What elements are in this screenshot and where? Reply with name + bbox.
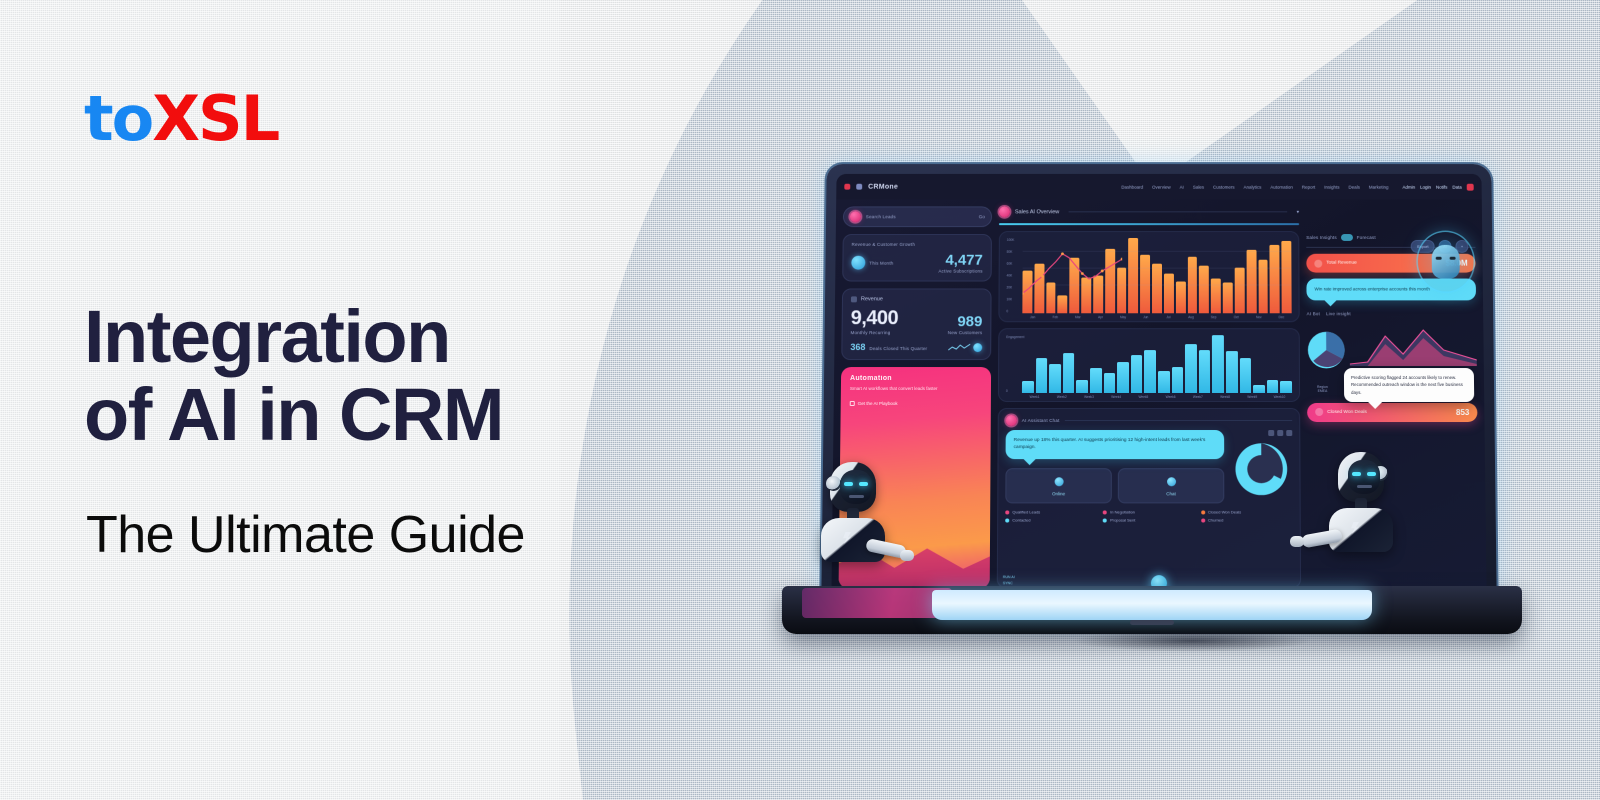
engagement-bar-chart-xaxis: Week1Week2Week3Week4Week5Week6Week7Week8…: [1006, 394, 1292, 398]
engagement-bar-chart: Engagement 0 Week1Week2Week3Week4Week5We…: [998, 328, 1300, 402]
topbar-admin-chip[interactable]: Admin: [1402, 184, 1415, 189]
page-title-line-2: of AI in CRM: [84, 376, 724, 454]
revenue-bar: [1058, 295, 1068, 312]
search-go-button[interactable]: Go: [979, 214, 985, 219]
engagement-bar: [1144, 350, 1156, 392]
legend-label: Closed Won Deals: [1208, 510, 1241, 515]
total-revenue-label: Total Revenue: [1326, 261, 1357, 266]
engagement-xtick: Week9: [1240, 394, 1265, 398]
promo-title: Automation: [850, 375, 982, 382]
laptop-base: [782, 586, 1522, 634]
revenue-bar: [1070, 258, 1080, 313]
robot-right-hand: [1290, 536, 1304, 547]
topbar-login-chip[interactable]: Login: [1420, 184, 1431, 189]
revenue-bar: [1046, 283, 1056, 313]
ai-avatar-head-icon: [1432, 245, 1460, 279]
close-icon[interactable]: [1286, 430, 1292, 436]
logo-text-xsl: XSL: [152, 82, 278, 155]
chat-stat-tile-chat[interactable]: Chat: [1118, 468, 1224, 503]
chat-stat-tile-online-label: Online: [1012, 492, 1104, 497]
engagement-bar: [1117, 362, 1129, 393]
legend-column-2: In Negotiation Proposal Sent: [1103, 510, 1195, 526]
main-header-avatar: [999, 206, 1010, 217]
revenue-bar: [1176, 281, 1186, 312]
engagement-ylabel-bottom: 0: [1006, 388, 1024, 392]
engagement-yaxis: Engagement 0: [1006, 335, 1024, 393]
engagement-bar: [1090, 368, 1102, 392]
legend-dot: [1103, 518, 1107, 522]
laptop-mockup: CRMone Dashboard Overview AI Sales Custo…: [782, 162, 1522, 642]
robot-left-mouth-icon: [849, 495, 864, 498]
legend-column-3: Closed Won Deals Churned: [1201, 510, 1293, 526]
engagement-bar-chart-plot: Engagement 0: [1006, 335, 1292, 393]
metrics-grid-icon: [851, 296, 857, 302]
topbar-data-chip[interactable]: Data: [1452, 184, 1462, 189]
laptop-base-glow-left: [802, 588, 952, 618]
revenue-bar: [1235, 267, 1245, 313]
engagement-bar: [1049, 364, 1061, 392]
revenue-xtick: Nov: [1248, 315, 1269, 319]
revenue-xtick: Jan: [1022, 315, 1043, 319]
revenue-bar: [1034, 264, 1044, 313]
metrics-primary-caption: Monthly Recurring: [851, 330, 899, 335]
legend-item: Contacted: [1005, 518, 1097, 523]
engagement-xtick: Week8: [1212, 394, 1237, 398]
brand-logo[interactable]: toXSL: [84, 88, 278, 150]
revenue-xtick: May: [1113, 315, 1134, 319]
ai-model-tag-icon: [1341, 234, 1353, 241]
legend-dot: [1201, 518, 1205, 522]
revenue-xtick: Aug: [1181, 315, 1202, 319]
ai-avatar-eye-right-icon: [1450, 257, 1456, 260]
revenue-bar: [1199, 266, 1209, 313]
robot-left-chest-logo-icon: [843, 532, 851, 544]
topbar-notifs-chip[interactable]: Notifs: [1436, 184, 1447, 189]
bubble-meta-left: AI Bot: [1307, 311, 1320, 316]
legend-item: Closed Won Deals: [1201, 510, 1293, 515]
app-nav[interactable]: Dashboard Overview AI Sales Customers An…: [1121, 184, 1388, 189]
revenue-bar: [1152, 264, 1162, 313]
revenue-bar-chart-plot: 100K80K60K40K20K10K0: [1006, 237, 1291, 312]
engagement-xtick: Week2: [1049, 394, 1074, 398]
search-avatar-icon: [850, 211, 861, 222]
legend-label: Contacted: [1012, 518, 1030, 523]
nav-item-analytics[interactable]: Analytics: [1243, 184, 1261, 189]
robot-right-mouth-icon: [1357, 485, 1372, 488]
chevron-down-icon[interactable]: ▾: [1297, 209, 1300, 215]
laptop-shadow: [1072, 630, 1312, 652]
revenue-bar: [1022, 270, 1032, 312]
kpi-card-row: This Month 4,477 Active Subscriptions: [851, 252, 983, 274]
legend-dot: [1005, 510, 1009, 514]
laptop-lid: CRMone Dashboard Overview AI Sales Custo…: [821, 164, 1497, 603]
revenue-ytick: 100K: [1007, 237, 1014, 241]
info-icon[interactable]: [1268, 430, 1274, 436]
metrics-secondary-value: 989: [948, 313, 983, 330]
revenue-bar: [1081, 277, 1091, 312]
metrics-footer-value: 368: [850, 342, 865, 352]
ai-chat-header: AI Assistant Chat: [1006, 414, 1292, 425]
revenue-ytick: 0: [1006, 309, 1013, 313]
legend-dot: [1103, 510, 1107, 514]
engagement-xtick: Week7: [1185, 394, 1210, 398]
legend-label: Proposal Sent: [1110, 518, 1135, 523]
nav-item-overview[interactable]: Overview: [1152, 184, 1171, 189]
laptop-base-notch: [1130, 620, 1174, 625]
laptop-keyboard-deck: [932, 590, 1372, 620]
closed-deals-badge[interactable]: Closed Won Deals 853: [1307, 403, 1477, 422]
robot-right-head: [1338, 452, 1384, 502]
ai-avatar-eye-left-icon: [1436, 257, 1442, 260]
ai-avatar-badge: [1418, 232, 1474, 291]
nav-item-customers[interactable]: Customers: [1213, 184, 1235, 189]
ai-chat-bubble: Revenue up 18% this quarter. AI suggests…: [1006, 430, 1225, 460]
revenue-ytick: 20K: [1007, 285, 1014, 289]
robot-left-hand: [900, 550, 914, 561]
window-dot-red-icon: [844, 184, 850, 190]
ai-chat-avatar: [1006, 414, 1017, 425]
revenue-ytick: 10K: [1006, 297, 1013, 301]
nav-item-marketing[interactable]: Marketing: [1369, 184, 1389, 189]
channel-mix-pie-chart: [1307, 324, 1346, 376]
revenue-xtick: Sep: [1203, 315, 1224, 319]
kpi-sub-label: This Month: [869, 260, 893, 265]
legend-item: In Negotiation: [1103, 510, 1195, 515]
revenue-bar: [1246, 250, 1256, 313]
page-subtitle: The Ultimate Guide: [86, 505, 525, 565]
revenue-bar: [1129, 237, 1139, 312]
main-header-title: Sales AI Overview: [1015, 209, 1059, 215]
metrics-action-icon[interactable]: [973, 343, 982, 352]
window-dot-blue-icon: [856, 184, 862, 190]
chat-stat-tile-chat-label: Chat: [1125, 492, 1217, 497]
robot-right-eye-right-icon: [1367, 472, 1376, 476]
right-panel-title: Sales Insights: [1306, 235, 1337, 240]
nav-item-dashboard[interactable]: Dashboard: [1121, 184, 1143, 189]
chat-stat-tile-online[interactable]: Online: [1005, 468, 1112, 503]
robot-left-face: [840, 470, 872, 504]
nav-item-automation[interactable]: Automation: [1270, 184, 1293, 189]
engagement-xtick: Week3: [1076, 394, 1101, 398]
revenue-bar: [1117, 267, 1127, 313]
expand-icon[interactable]: [1277, 430, 1283, 436]
conversion-area-chart: [1349, 324, 1476, 366]
robot-right-face: [1348, 460, 1380, 494]
robot-left-eye-right-icon: [859, 482, 868, 486]
robot-left-ear-icon: [826, 476, 841, 491]
engagement-xtick: Week10: [1267, 394, 1292, 398]
engagement-bar: [1226, 351, 1238, 392]
engagement-xtick: Week6: [1158, 394, 1183, 398]
revenue-badge-icon: [1314, 259, 1322, 267]
robot-left-head: [830, 462, 876, 512]
revenue-bar: [1105, 248, 1115, 312]
kpi-caption: Active Subscriptions: [938, 269, 982, 274]
engagement-bar: [1104, 373, 1116, 392]
engagement-bar: [1063, 353, 1075, 393]
page-title-line-1: Integration: [84, 298, 724, 376]
revenue-xtick: Feb: [1045, 315, 1066, 319]
message-icon: [1167, 478, 1176, 487]
revenue-ytick: 40K: [1007, 273, 1014, 277]
legend-item: Churned: [1201, 518, 1293, 523]
engagement-bar: [1239, 358, 1251, 393]
nav-item-ai[interactable]: AI: [1180, 184, 1184, 189]
revenue-xtick: Jun: [1135, 315, 1156, 319]
topbar-alert-icon[interactable]: [1467, 183, 1474, 190]
pipeline-donut-chart: [1232, 440, 1290, 498]
nav-item-report[interactable]: Report: [1302, 184, 1315, 189]
revenue-bar-chart-yaxis: 100K80K60K40K20K10K0: [1006, 237, 1014, 312]
kpi-card: Revenue & Customer Growth This Month 4,4…: [842, 234, 992, 281]
legend-dot: [1005, 518, 1009, 522]
engagement-xtick: Week1: [1022, 394, 1047, 398]
revenue-xtick: Dec: [1271, 315, 1292, 319]
robot-left-eye-left-icon: [844, 482, 853, 486]
revenue-ytick: 60K: [1007, 261, 1014, 265]
revenue-bar: [1093, 275, 1103, 313]
revenue-xtick: Oct: [1226, 315, 1247, 319]
revenue-bar-chart-xaxis: JanFebMarAprMayJunJulAugSepOctNovDec: [1006, 315, 1291, 319]
app-brand-name: CRMone: [868, 183, 898, 190]
legend-item: Proposal Sent: [1103, 518, 1195, 523]
assistant-robot-left: [830, 462, 876, 512]
legend-label: Qualified Leads: [1012, 510, 1040, 515]
revenue-xtick: Jul: [1158, 315, 1179, 319]
metrics-card: Revenue 9,400 Monthly Recurring 989 New …: [841, 288, 991, 360]
revenue-xtick: Apr: [1090, 315, 1111, 319]
metrics-card-title: Revenue: [861, 296, 883, 302]
main-header-underline: [999, 223, 1299, 224]
engagement-bar: [1280, 381, 1292, 393]
promo-button-icon: [850, 401, 855, 406]
revenue-bar: [1164, 274, 1174, 313]
engagement-ylabel-top: Engagement: [1006, 335, 1024, 339]
promo-button[interactable]: Get the AI Playbook: [850, 401, 898, 406]
prediction-tooltip: Predictive scoring flagged 24 accounts l…: [1344, 368, 1474, 402]
assistant-robot-right: [1338, 452, 1384, 502]
ai-chat-panel: AI Assistant Chat Revenue up 18% this qu…: [997, 407, 1301, 588]
revenue-xtick: Mar: [1068, 315, 1089, 319]
promo-button-label: Get the AI Playbook: [858, 401, 898, 406]
promo-body: Smart AI workflows that convert leads fa…: [850, 386, 982, 393]
bubble-meta-right: Live insight: [1326, 311, 1351, 316]
engagement-xtick: Week4: [1104, 394, 1129, 398]
legend-label: Churned: [1208, 518, 1223, 523]
revenue-bar: [1270, 245, 1280, 312]
engagement-bar: [1199, 350, 1211, 392]
revenue-bar-chart: 100K80K60K40K20K10K0 JanFebMarAprMayJunJ…: [998, 231, 1299, 322]
nav-item-sales[interactable]: Sales: [1193, 184, 1204, 189]
search-input[interactable]: Search Leads: [866, 214, 974, 219]
legend-label: In Negotiation: [1110, 510, 1135, 515]
ai-chat-title: AI Assistant Chat: [1022, 417, 1060, 422]
nav-item-deals[interactable]: Deals: [1348, 184, 1359, 189]
engagement-bar: [1036, 358, 1048, 393]
legend-item: Qualified Leads: [1005, 510, 1097, 515]
deals-badge-icon: [1315, 408, 1323, 416]
robot-right-chest-logo-icon: [1351, 522, 1359, 534]
metrics-footer-caption: Deals Closed This Quarter: [869, 346, 927, 351]
revenue-ytick: 80K: [1007, 249, 1014, 253]
engagement-bar: [1131, 355, 1143, 392]
sidebar-search[interactable]: Search Leads Go: [843, 206, 992, 227]
sparkline-icon: [948, 342, 970, 352]
engagement-bar: [1185, 344, 1197, 393]
right-axis-label: EMEA: [1307, 389, 1338, 393]
user-icon: [1054, 478, 1063, 487]
metrics-secondary-caption: New Customers: [948, 330, 983, 335]
engagement-xtick: Week5: [1131, 394, 1156, 398]
kpi-value: 4,477: [938, 252, 982, 269]
metrics-primary-value: 9,400: [851, 307, 899, 330]
engagement-bar: [1212, 335, 1224, 393]
closed-deals-value: 853: [1456, 408, 1469, 417]
chat-legend: Qualified Leads Contacted In Negotiation…: [1005, 510, 1293, 526]
engagement-bar: [1172, 367, 1184, 393]
kpi-user-icon: [851, 256, 865, 270]
robot-right-eye-left-icon: [1352, 472, 1361, 476]
legend-dot: [1201, 510, 1205, 514]
app-topbar: CRMone Dashboard Overview AI Sales Custo…: [836, 174, 1482, 200]
app-topbar-right[interactable]: Admin Login Notifs Data: [1402, 183, 1473, 190]
kpi-card-title: Revenue & Customer Growth: [852, 242, 983, 247]
revenue-bar: [1223, 283, 1233, 313]
legend-column-1: Qualified Leads Contacted: [1005, 510, 1097, 526]
engagement-bar: [1158, 371, 1170, 393]
engagement-bar: [1267, 380, 1279, 393]
nav-item-insights[interactable]: Insights: [1324, 184, 1339, 189]
engagement-bar: [1253, 385, 1265, 393]
page-title: Integration of AI in CRM: [84, 298, 724, 455]
dashboard-main: Sales AI Overview ▾ 100K80K60K40K20K10K0: [997, 206, 1301, 588]
right-axis-cell: RegionEMEA: [1307, 385, 1338, 393]
engagement-bar: [1076, 380, 1088, 393]
forecast-tag: Forecast: [1357, 235, 1376, 240]
chat-panel-actions[interactable]: [1268, 430, 1292, 436]
donut-center-hole: [1247, 455, 1275, 483]
logo-text-to: to: [84, 82, 152, 155]
closed-deals-label: Closed Won Deals: [1327, 410, 1367, 415]
